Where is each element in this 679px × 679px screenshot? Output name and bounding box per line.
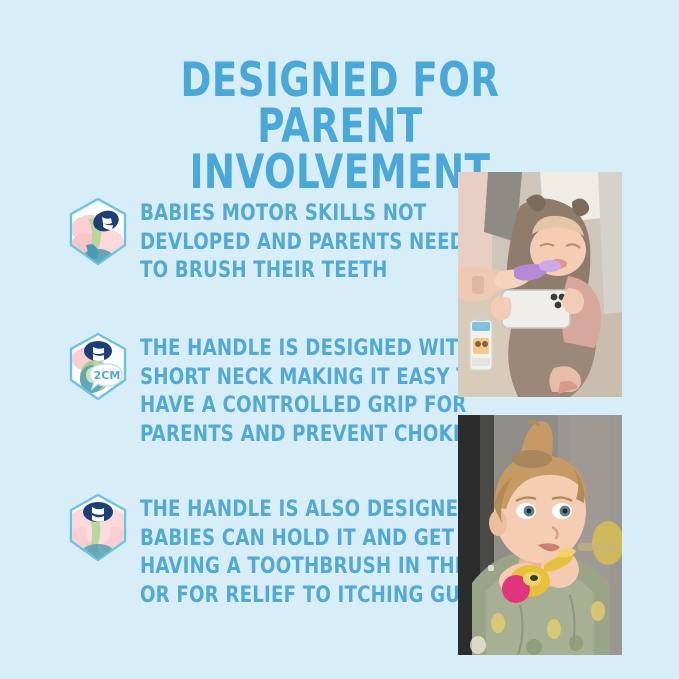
feature-text: THE HANDLE IS DESIGNED WITH A SHORT NECK… [140, 331, 498, 449]
parent-hands-brushing-icon [62, 196, 134, 268]
feature-row: BABIES MOTOR SKILLS NOT DEVLOPED AND PAR… [62, 196, 493, 286]
photo-baby-in-hooded-towel-with-phone [458, 172, 622, 397]
short-neck-handle-icon: 2CM [62, 331, 134, 403]
badge-label-2cm: 2CM [94, 369, 121, 382]
feature-text: BABIES MOTOR SKILLS NOT DEVLOPED AND PAR… [140, 196, 465, 286]
photo-toddler-chewing-toothbrush [458, 415, 622, 655]
baby-holding-brush-icon [62, 492, 134, 564]
infographic-page: DESIGNED FOR PARENT INVOLVEMENT [0, 0, 679, 679]
